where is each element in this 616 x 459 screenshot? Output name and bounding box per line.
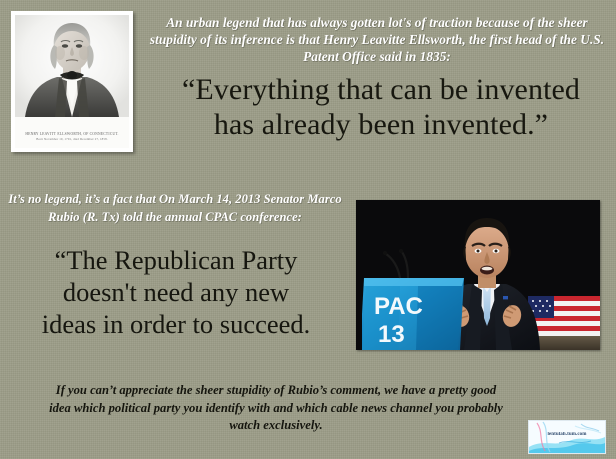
closing-note-text: If you can’t appreciate the sheer stupid…: [46, 382, 506, 435]
rubio-quote-line-3: ideas in order to succeed.: [2, 308, 350, 340]
rubio-quote-line-2: doesn't need any new: [2, 276, 350, 308]
portrait-inner-mat: HENRY LEAVITT ELLSWORTH, OF CONNECTICUT.…: [15, 15, 129, 148]
rubio-cpac-photo: PAC 13: [356, 200, 600, 350]
ellsworth-quote-line-1: “Everything that can be invented: [182, 73, 580, 106]
watermark-text: lentulah.tum.com: [529, 432, 605, 437]
ellsworth-quote: “Everything that can be invented has alr…: [150, 72, 612, 142]
site-watermark-logo[interactable]: lentulah.tum.com: [528, 420, 606, 454]
portrait-caption-line-1: HENRY LEAVITT ELLSWORTH, OF CONNECTICUT.: [15, 132, 129, 136]
ellsworth-engraving-image: [15, 15, 129, 117]
ellsworth-portrait-frame: HENRY LEAVITT ELLSWORTH, OF CONNECTICUT.…: [11, 11, 133, 152]
rubio-quote: “The Republican Party doesn't need any n…: [2, 244, 350, 340]
rubio-lead-in-text: It’s no legend, it’s a fact that On Marc…: [6, 191, 344, 226]
portrait-caption: HENRY LEAVITT ELLSWORTH, OF CONNECTICUT.…: [15, 132, 129, 142]
poster-canvas: HENRY LEAVITT ELLSWORTH, OF CONNECTICUT.…: [0, 0, 616, 459]
rubio-quote-line-1: “The Republican Party: [2, 244, 350, 276]
portrait-caption-line-2: Born November 10, 1791, died December 27…: [15, 138, 129, 142]
ellsworth-lead-in-text: An urban legend that has always gotten l…: [146, 14, 608, 66]
svg-text:13: 13: [378, 321, 405, 348]
svg-text:PAC: PAC: [374, 293, 423, 320]
ellsworth-quote-line-2: has already been invented.”: [150, 107, 612, 142]
